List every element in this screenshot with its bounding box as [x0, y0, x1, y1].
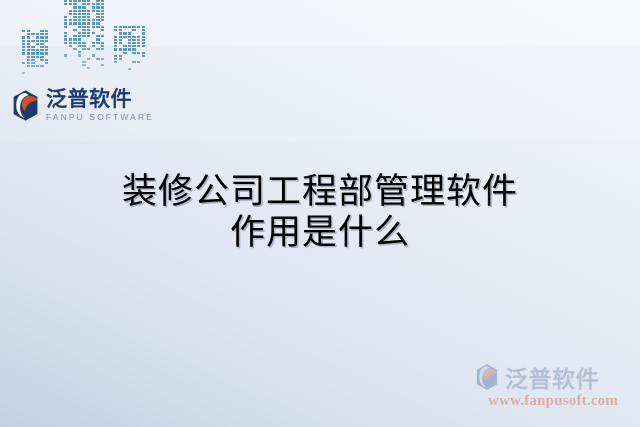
watermark-row: 泛普软件: [472, 361, 628, 393]
fanpu-watermark-mark-icon: [472, 363, 502, 391]
slide-canvas: 泛普软件 FANPU SOFTWARE 装修公司工程部管理软件 作用是什么 泛普…: [0, 0, 640, 427]
watermark-url: www.fanpusoft.com: [472, 393, 628, 410]
watermark: 泛普软件 www.fanpusoft.com: [472, 361, 628, 415]
brand-logo: 泛普软件 FANPU SOFTWARE: [9, 82, 149, 128]
brand-logo-en: FANPU SOFTWARE: [46, 113, 154, 122]
page-title-line-2: 作用是什么: [0, 213, 640, 254]
watermark-cn: 泛普软件: [505, 360, 599, 394]
brand-logo-cn: 泛普软件: [46, 89, 154, 110]
page-title-line-1: 装修公司工程部管理软件: [0, 172, 640, 213]
page-title: 装修公司工程部管理软件 作用是什么: [0, 172, 640, 253]
fanpu-logo-mark-icon: [9, 89, 42, 122]
pixel-city-skyline-icon: [22, 0, 142, 80]
brand-logo-text: 泛普软件 FANPU SOFTWARE: [46, 89, 154, 122]
